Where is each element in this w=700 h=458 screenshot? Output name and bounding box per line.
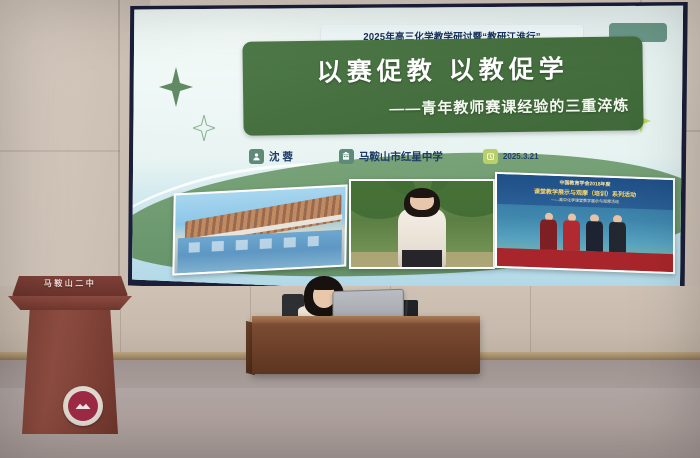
calendar-icon <box>483 149 498 164</box>
lectern-lip <box>8 296 132 310</box>
presentation-slide: 2025年高三化学教学研讨暨“教研江淮行” 以赛促教 以教促学 ——青年教师赛课… <box>131 5 687 305</box>
meta-school-label: 马鞍山市红星中学 <box>359 149 443 164</box>
desk-top-edge <box>252 316 480 323</box>
lectern-name-plate: 马鞍山二中 <box>12 278 128 289</box>
lectern-column <box>22 310 118 434</box>
award-photo-banner: 中国教育学会2018年度 课堂教学展示与观摩（培训）系列活动 ——高中化学课堂教… <box>497 174 673 211</box>
mountain-glyph-icon <box>74 401 92 411</box>
slide-title-main: 以赛促教 以教促学 <box>261 48 625 89</box>
school-crest-emblem <box>63 386 103 426</box>
school-building-photo <box>172 184 347 275</box>
meta-presenter-label: 沈 蓉 <box>269 149 293 164</box>
slide-photo-strip: 中国教育学会2018年度 课堂教学展示与观摩（培训）系列活动 ——高中化学课堂教… <box>173 173 673 269</box>
meta-school: 马鞍山市红星中学 <box>339 149 443 164</box>
four-point-star-icon <box>159 67 193 107</box>
meta-presenter: 沈 蓉 <box>249 149 293 164</box>
meta-date: 2025.3.21 <box>483 149 539 164</box>
slide-meta-row: 沈 蓉 马鞍山市红星中学 2025.3.21 <box>249 145 669 167</box>
auditorium-scene: 2025年高三化学教学研讨暨“教研江淮行” 以赛促教 以教促学 ——青年教师赛课… <box>0 0 700 458</box>
meta-date-label: 2025.3.21 <box>503 152 539 161</box>
award-group-photo: 中国教育学会2018年度 课堂教学展示与观摩（培训）系列活动 ——高中化学课堂教… <box>495 172 675 274</box>
projection-screen: 2025年高三化学教学研讨暨“教研江淮行” 以赛促教 以教促学 ——青年教师赛课… <box>131 5 687 305</box>
four-point-star-outline-icon <box>193 115 215 141</box>
person-icon <box>249 149 264 164</box>
school-icon <box>339 149 354 164</box>
teacher-portrait-photo <box>349 179 495 269</box>
slide-title-sub: ——青年教师赛课经验的三重淬炼 <box>243 94 629 120</box>
wall-seam <box>0 150 120 152</box>
award-banner-line3: ——高中化学课堂教学展示与观摩活动 <box>551 197 619 205</box>
slide-title-plate: 以赛促教 以教促学 ——青年教师赛课经验的三重淬炼 <box>242 36 643 136</box>
presenter-desk <box>252 316 480 374</box>
